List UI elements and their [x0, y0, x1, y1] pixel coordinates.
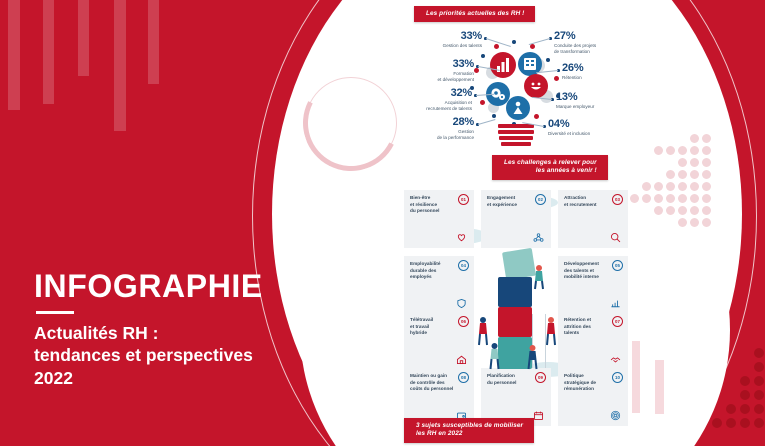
bulb-base-stripe	[499, 136, 533, 140]
challenge-label-line3: employés	[410, 274, 456, 281]
challenge-card-01[interactable]: 01 Bien-être et résilience du personnel	[404, 190, 474, 248]
challenge-label-line3: du personnel	[410, 208, 456, 215]
challenge-label-line1: Engagement	[487, 195, 533, 202]
challenge-card-04[interactable]: 04 Employabilité durable des employés	[404, 256, 474, 314]
challenge-label: Employabilité durable des employés	[410, 261, 456, 281]
priority-pct: 13%	[556, 91, 648, 103]
title-divider	[36, 311, 74, 314]
home-office-icon	[455, 353, 468, 366]
priority-right-2: 13% Marque employeur	[556, 91, 648, 110]
fingerprint-icon	[609, 409, 622, 422]
priority-label-line2: recrutement de talents	[370, 106, 472, 112]
challenge-label-line2: et expérience	[487, 202, 533, 209]
decor-dot-light	[690, 170, 699, 179]
decor-dot-dark	[754, 376, 764, 386]
bulb-dot	[480, 100, 485, 105]
decor-dot-light	[690, 218, 699, 227]
priority-pct: 33%	[382, 58, 474, 70]
decor-dot-light	[678, 206, 687, 215]
challenge-card-05[interactable]: 05 Développement des talents et mobilité…	[558, 256, 628, 314]
decor-dot-light	[654, 206, 663, 215]
decor-dot-dark	[754, 418, 764, 428]
priority-pct: 32%	[370, 87, 472, 99]
challenge-label-line3: coûts du personnel	[410, 386, 456, 393]
priority-right-0: 27% Conduite des projets de transformati…	[554, 30, 646, 55]
decor-dot-dark	[726, 404, 736, 414]
priority-left-3: 28% Gestion de la performance	[378, 116, 474, 141]
challenge-label-line1: Employabilité	[410, 261, 456, 268]
challenge-number: 05	[612, 260, 623, 271]
priority-label-line1: Diversité et inclusion	[548, 131, 644, 137]
bulb-base-stripe	[498, 130, 534, 134]
challenge-label: Développement des talents et mobilité in…	[564, 261, 610, 281]
challenge-label: Rétention et attrition des talents	[564, 317, 610, 337]
priority-pct: 27%	[554, 30, 646, 42]
challenge-label-line2: attrition des	[564, 324, 610, 331]
puzzle-piece-navy	[498, 277, 532, 307]
challenge-label-line1: Maintien ou gain	[410, 373, 456, 380]
decor-dot-light	[702, 158, 711, 167]
bulb-dot	[494, 44, 499, 49]
decor-dot-dark	[754, 404, 764, 414]
person-idea-icon	[506, 96, 530, 120]
decor-dot-light	[702, 218, 711, 227]
decor-dot-light	[642, 194, 651, 203]
bulb-dot	[530, 44, 535, 49]
challenge-label-line2: et travail	[410, 324, 456, 331]
page-title: INFOGRAPHIE	[34, 270, 364, 304]
decor-dot-light	[678, 218, 687, 227]
subtitle-line-1: Actualités RH :	[34, 322, 364, 345]
priority-label: Rétention	[562, 75, 654, 81]
challenge-label: Télétravail et travail hybride	[410, 317, 456, 337]
magnifier-person-icon	[609, 231, 622, 244]
figure-bottom	[488, 342, 501, 370]
banner-middle: Les challenges à relever pour les années…	[492, 155, 608, 180]
decor-dot-light	[690, 158, 699, 167]
decor-dot-dark	[726, 418, 736, 428]
priority-label-line1: Gestion des talents	[390, 43, 482, 49]
challenge-number: 06	[458, 316, 469, 327]
decor-dot-light	[678, 158, 687, 167]
challenge-label-line2: et recrutement	[564, 202, 610, 209]
challenge-label-line2: durable des	[410, 268, 456, 275]
decor-dot-light	[666, 146, 675, 155]
priority-pct: 28%	[378, 116, 474, 128]
decor-dot-light	[690, 134, 699, 143]
decor-dot-light	[654, 194, 663, 203]
challenge-number: 01	[458, 194, 469, 205]
priority-left-0: 33% Gestion des talents	[390, 30, 482, 49]
handshake-icon	[609, 353, 622, 366]
bulb-dot	[534, 114, 539, 119]
priority-label-line2: de transformation	[554, 49, 646, 55]
priority-left-1: 33% Formation et développement	[382, 58, 474, 83]
puzzle-piece-red	[498, 307, 532, 337]
decor-bar-5	[148, 0, 159, 84]
priority-label-line1: Rétention	[562, 75, 654, 81]
priority-label-line2: de la performance	[378, 135, 474, 141]
challenge-card-03[interactable]: 03 Attraction et recrutement	[558, 190, 628, 248]
priority-label: Acquisition et recrutement de talents	[370, 100, 472, 112]
decor-dot-light	[702, 206, 711, 215]
decor-dot-dark	[754, 348, 764, 358]
shield-icon	[455, 297, 468, 310]
decor-dot-light	[702, 170, 711, 179]
puzzle-illustration	[474, 250, 560, 378]
banner-bottom-line2: les RH en 2022	[416, 430, 523, 438]
challenge-label: Maintien ou gain de contrôle des coûts d…	[410, 373, 456, 393]
decor-dot-dark	[740, 390, 750, 400]
decor-dot-light	[678, 146, 687, 155]
challenge-label: Politique stratégique de rémunération	[564, 373, 610, 393]
priority-label: Conduite des projets de transformation	[554, 43, 646, 55]
decor-dot-light	[678, 194, 687, 203]
priority-label-line2: et développement	[382, 77, 474, 83]
challenge-number: 04	[458, 260, 469, 271]
infographic-poster: INFOGRAPHIE Actualités RH : tendances et…	[0, 0, 765, 446]
challenge-card-02[interactable]: 02 Engagement et expérience	[481, 190, 551, 248]
decor-dot-light	[690, 194, 699, 203]
banner-bottom-line1: 3 sujets susceptibles de mobiliser	[416, 422, 523, 430]
challenge-label-line3: rémunération	[564, 386, 610, 393]
decor-dot-light	[666, 170, 675, 179]
decor-bar-1	[8, 0, 20, 110]
decor-dot-light	[702, 134, 711, 143]
decor-dot-light	[654, 182, 663, 191]
priority-label-line1: Marque employeur	[556, 104, 648, 110]
decor-dot-light	[666, 194, 675, 203]
figure-bottom-right	[526, 344, 539, 370]
banner-middle-line1: Les challenges à relever pour	[504, 159, 597, 167]
challenge-label-line1: Politique	[564, 373, 610, 380]
decor-pale-bar-2	[655, 360, 664, 414]
decor-dot-light	[702, 194, 711, 203]
priority-right-1: 26% Rétention	[562, 62, 654, 81]
challenge-label: Bien-être et résilience du personnel	[410, 195, 456, 215]
infographic-column: Les priorités actuelles des RH !	[396, 0, 636, 446]
priority-label: Formation et développement	[382, 71, 474, 83]
challenge-label-line2: et résilience	[410, 202, 456, 209]
decor-bar-2	[43, 0, 54, 104]
decor-dot-light	[678, 170, 687, 179]
bulb-base-stripe	[501, 142, 531, 146]
challenge-label-line1: Attraction	[564, 195, 610, 202]
decor-dot-light	[666, 206, 675, 215]
priority-label: Marque employeur	[556, 104, 648, 110]
bulb-dot	[546, 58, 550, 62]
priority-label: Gestion de la performance	[378, 129, 474, 141]
decor-bar-3	[78, 0, 89, 76]
decor-dot-light	[690, 206, 699, 215]
challenge-label-line3: hybride	[410, 330, 456, 337]
challenge-label-line1: Rétention et	[564, 317, 610, 324]
challenge-label-line3: talents	[564, 330, 610, 337]
challenge-number: 02	[535, 194, 546, 205]
priority-pct: 33%	[390, 30, 482, 42]
challenge-label-line1: Télétravail	[410, 317, 456, 324]
figure-right	[544, 316, 558, 346]
smiley-faces-icon	[524, 74, 548, 98]
bulb-base-stripe	[498, 124, 534, 128]
decor-dot-dark	[740, 404, 750, 414]
bulb-dot	[492, 114, 496, 118]
challenge-label-line2: de contrôle des	[410, 380, 456, 387]
bulb-dot	[554, 76, 559, 81]
bulb-dot	[481, 54, 485, 58]
priority-pct: 26%	[562, 62, 654, 74]
decor-bar-4	[114, 0, 126, 131]
banner-bottom: 3 sujets susceptibles de mobiliser les R…	[404, 418, 534, 443]
growth-chart-icon	[609, 297, 622, 310]
challenge-label-line1: Développement	[564, 261, 610, 268]
challenge-label-line2: stratégique de	[564, 380, 610, 387]
priority-label: Gestion des talents	[390, 43, 482, 49]
banner-top-text: Les priorités actuelles des RH !	[426, 10, 524, 17]
decor-dot-dark	[754, 390, 764, 400]
bulb-dot	[474, 68, 479, 73]
challenge-card-10[interactable]: 10 Politique stratégique de rémunération	[558, 368, 628, 426]
decor-dot-light	[642, 182, 651, 191]
subtitle-line-3: 2022	[34, 367, 364, 390]
challenge-label: Engagement et expérience	[487, 195, 533, 208]
challenge-number: 08	[458, 372, 469, 383]
challenge-number: 10	[612, 372, 623, 383]
decor-dot-light	[690, 182, 699, 191]
decor-dot-light	[690, 146, 699, 155]
subtitle-line-2: tendances et perspectives	[34, 344, 364, 367]
decor-dot-light	[654, 146, 663, 155]
challenge-label-line2: des talents et	[564, 268, 610, 275]
priority-label: Diversité et inclusion	[548, 131, 644, 137]
heart-hands-icon	[455, 231, 468, 244]
priority-left-2: 32% Acquisition et recrutement de talent…	[370, 87, 472, 112]
banner-middle-line2: les années à venir !	[504, 167, 597, 175]
decor-dot-light	[702, 146, 711, 155]
bulb-dot	[512, 40, 516, 44]
banner-top: Les priorités actuelles des RH !	[414, 6, 535, 22]
puzzle-piece-top	[502, 248, 536, 280]
challenge-number: 07	[612, 316, 623, 327]
page-subtitle: Actualités RH : tendances et perspective…	[34, 322, 364, 390]
decor-dot-light	[678, 182, 687, 191]
priority-right-3: 04% Diversité et inclusion	[548, 118, 644, 137]
priority-pct: 04%	[548, 118, 644, 130]
figure-climbing	[532, 264, 546, 290]
challenge-number: 03	[612, 194, 623, 205]
title-block: INFOGRAPHIE Actualités RH : tendances et…	[34, 270, 364, 390]
decor-dot-dark	[754, 362, 764, 372]
challenge-card-06[interactable]: 06 Télétravail et travail hybride	[404, 312, 474, 370]
network-people-icon	[532, 231, 545, 244]
challenge-label-line1: Bien-être	[410, 195, 456, 202]
decor-dot-dark	[712, 418, 722, 428]
challenge-label-line2: du personnel	[487, 380, 533, 387]
decor-dot-dark	[740, 376, 750, 386]
decor-dot-dark	[740, 418, 750, 428]
bar-chart-icon	[490, 52, 516, 78]
challenge-card-07[interactable]: 07 Rétention et attrition des talents	[558, 312, 628, 370]
decor-dot-light	[666, 182, 675, 191]
decor-dot-light	[702, 182, 711, 191]
challenge-label: Attraction et recrutement	[564, 195, 610, 208]
challenge-label-line3: mobilité interne	[564, 274, 610, 281]
